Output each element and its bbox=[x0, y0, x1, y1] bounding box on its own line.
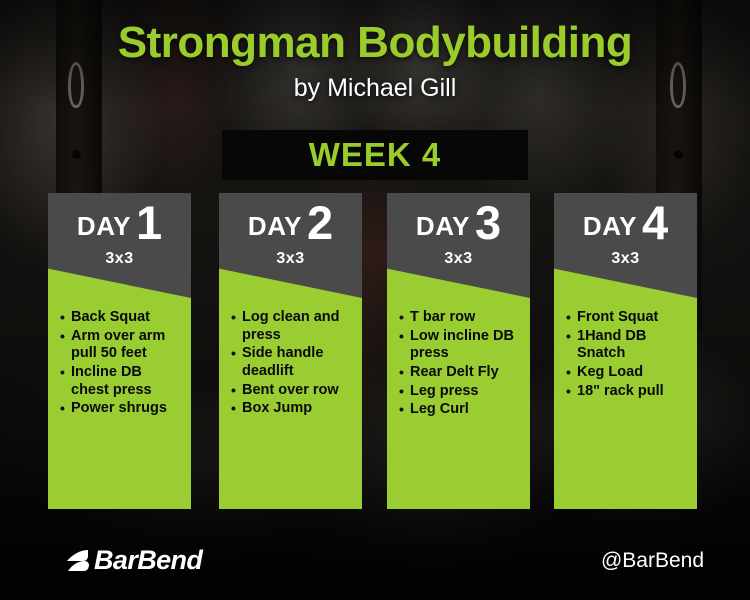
week-label: WEEK 4 bbox=[309, 136, 442, 174]
day-number: 4 bbox=[642, 202, 668, 244]
week-banner: WEEK 4 bbox=[222, 130, 528, 180]
exercise-item: Back Squat bbox=[60, 309, 183, 327]
page-title: Strongman Bodybuilding bbox=[0, 18, 750, 68]
exercise-list: T bar row Low incline DB press Rear Delt… bbox=[399, 309, 522, 420]
exercise-list: Log clean and press Side handle deadlift… bbox=[231, 309, 354, 419]
exercise-item: Leg press bbox=[399, 383, 522, 401]
exercise-item: Box Jump bbox=[231, 400, 354, 418]
barbend-logo: BarBend bbox=[66, 545, 202, 576]
day-card: DAY 4 3x3 Front Squat 1Hand DB Snatch Ke… bbox=[554, 193, 697, 509]
set-scheme: 3x3 bbox=[219, 250, 362, 268]
exercise-item: Side handle deadlift bbox=[231, 345, 354, 380]
set-scheme: 3x3 bbox=[48, 250, 191, 268]
exercise-item: Rear Delt Fly bbox=[399, 364, 522, 382]
infographic-poster: Strongman Bodybuilding by Michael Gill W… bbox=[0, 0, 750, 600]
exercise-item: T bar row bbox=[399, 309, 522, 327]
day-heading: DAY 1 bbox=[48, 205, 191, 247]
set-scheme: 3x3 bbox=[554, 250, 697, 268]
exercise-item: Leg Curl bbox=[399, 401, 522, 419]
barbend-logo-text: BarBend bbox=[94, 545, 202, 576]
exercise-list: Back Squat Arm over arm pull 50 feet Inc… bbox=[60, 309, 183, 419]
day-number: 2 bbox=[307, 202, 333, 244]
exercise-item: Power shrugs bbox=[60, 400, 183, 418]
barbend-swoosh-icon bbox=[66, 548, 92, 574]
exercise-item: Incline DB chest press bbox=[60, 364, 183, 399]
set-scheme: 3x3 bbox=[387, 250, 530, 268]
exercise-item: Front Squat bbox=[566, 309, 689, 327]
exercise-item: Log clean and press bbox=[231, 309, 354, 344]
day-number: 1 bbox=[136, 202, 162, 244]
day-heading: DAY 4 bbox=[554, 205, 697, 247]
day-word: DAY bbox=[248, 211, 302, 242]
exercise-item: Bent over row bbox=[231, 382, 354, 400]
exercise-item: Low incline DB press bbox=[399, 328, 522, 363]
day-word: DAY bbox=[416, 211, 470, 242]
day-heading: DAY 2 bbox=[219, 205, 362, 247]
exercise-list: Front Squat 1Hand DB Snatch Keg Load 18"… bbox=[566, 309, 689, 401]
social-handle: @BarBend bbox=[601, 549, 704, 573]
day-card: DAY 3 3x3 T bar row Low incline DB press… bbox=[387, 193, 530, 509]
day-heading: DAY 3 bbox=[387, 205, 530, 247]
exercise-item: Keg Load bbox=[566, 364, 689, 382]
author-byline: by Michael Gill bbox=[0, 74, 750, 103]
day-word: DAY bbox=[77, 211, 131, 242]
day-number: 3 bbox=[475, 202, 501, 244]
exercise-item: 1Hand DB Snatch bbox=[566, 328, 689, 363]
exercise-item: Arm over arm pull 50 feet bbox=[60, 328, 183, 363]
exercise-item: 18" rack pull bbox=[566, 383, 689, 401]
day-card: DAY 2 3x3 Log clean and press Side handl… bbox=[219, 193, 362, 509]
day-word: DAY bbox=[583, 211, 637, 242]
day-card: DAY 1 3x3 Back Squat Arm over arm pull 5… bbox=[48, 193, 191, 509]
